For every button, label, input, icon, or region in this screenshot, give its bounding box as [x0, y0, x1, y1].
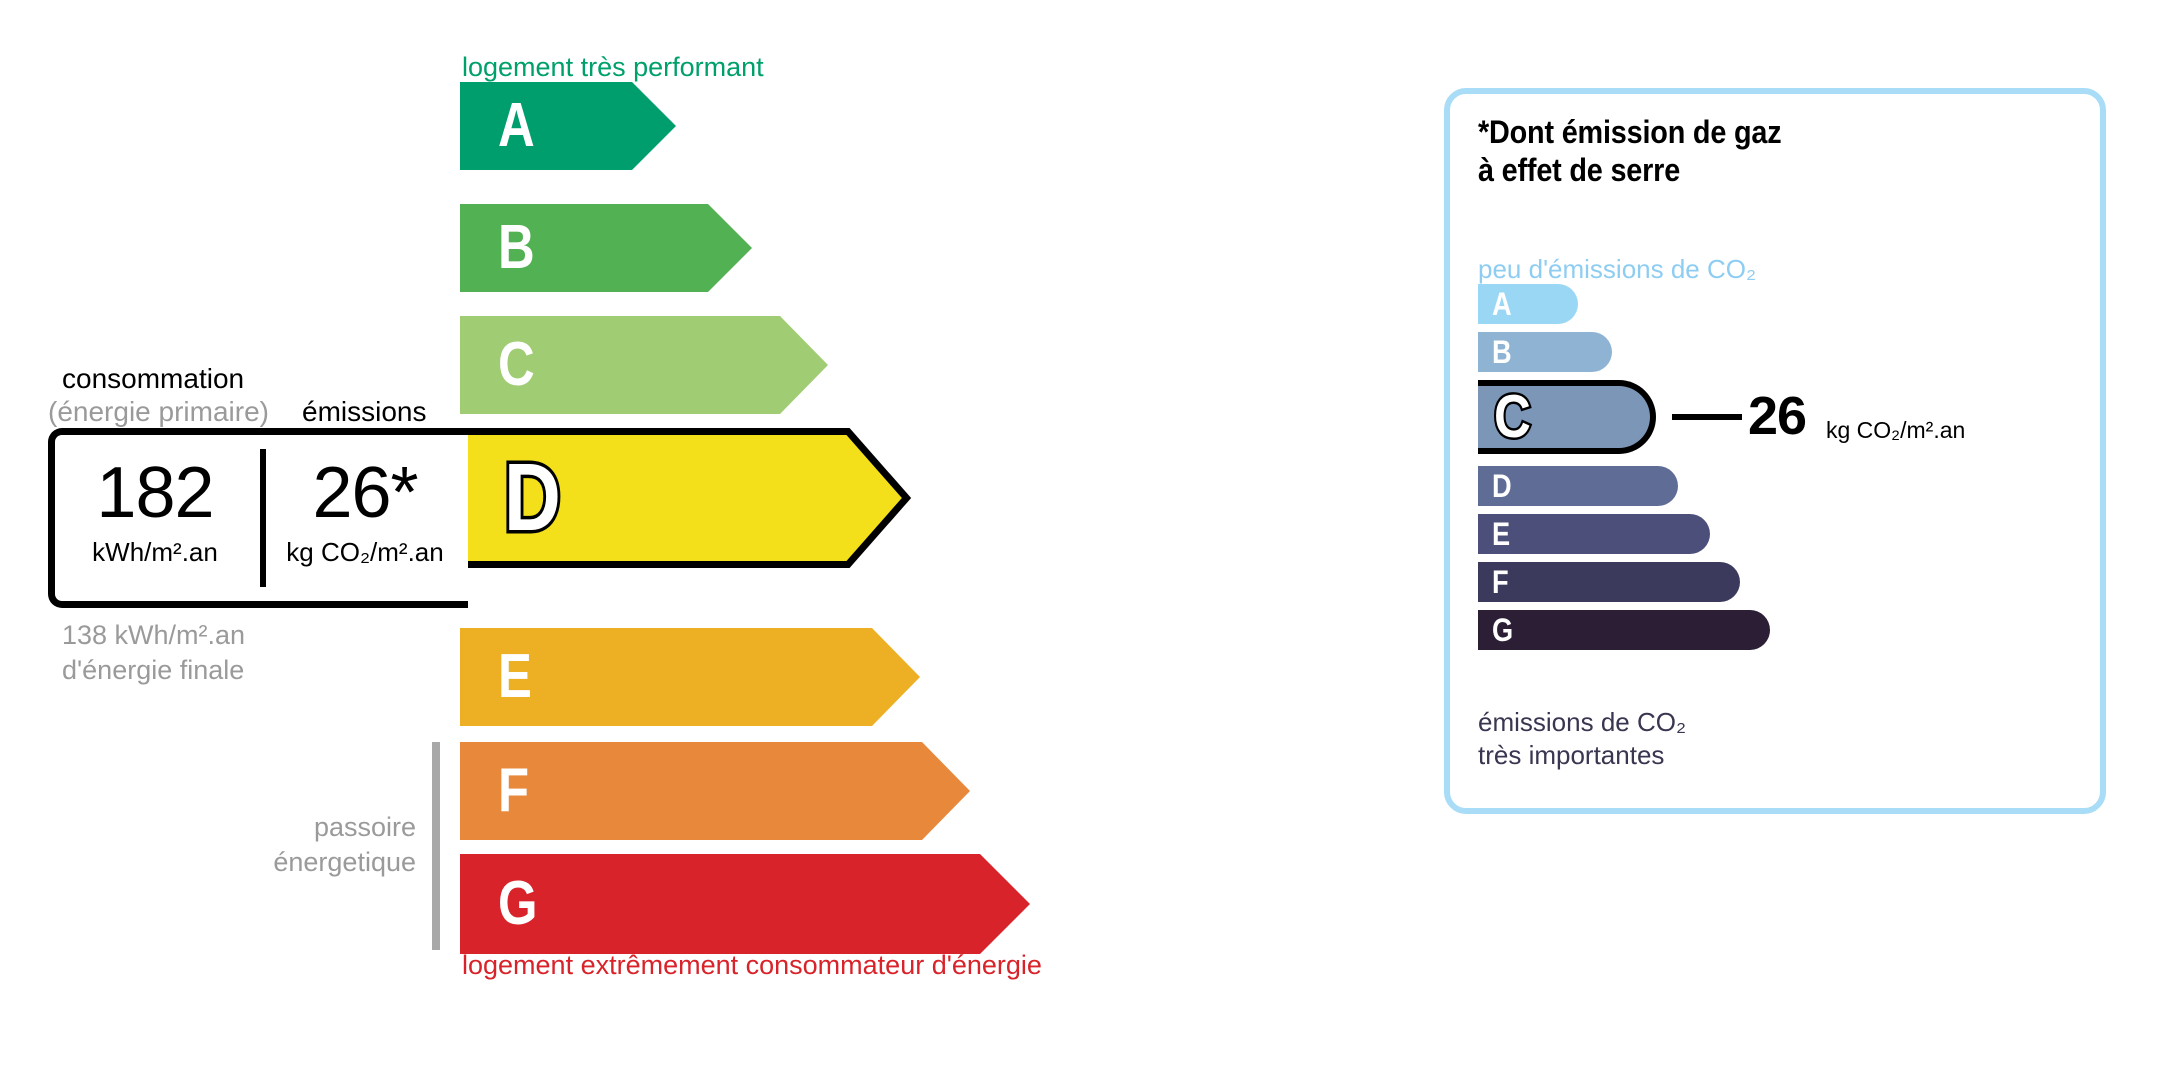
energy-band-g[interactable]: G: [460, 854, 1030, 954]
co2-callout-leader-line: [1672, 414, 1742, 420]
co2-panel-title: *Dont émission de gaz à effet de serre: [1478, 114, 1815, 190]
energy-band-e[interactable]: E: [460, 628, 920, 726]
label-energie-finale: 138 kWh/m².an d'énergie finale: [62, 618, 245, 688]
consumption-unit: kWh/m².an: [57, 537, 253, 568]
passoire-bracket: [432, 742, 440, 950]
band-letter-b: B: [498, 217, 543, 279]
energy-band-c[interactable]: C: [460, 316, 828, 414]
energie-finale-value: 138 kWh/m².an: [62, 618, 245, 653]
consumption-value: 182: [57, 457, 253, 529]
co2-bar-letter-a: A: [1492, 288, 1515, 320]
energy-value-box: 182 kWh/m².an 26* kg CO₂/m².an: [48, 428, 468, 608]
band-letter-e: E: [498, 646, 539, 708]
band-shape-a: [460, 82, 676, 170]
co2-bar-d[interactable]: D: [1478, 466, 1678, 506]
energy-band-f[interactable]: F: [460, 742, 970, 840]
label-consommation: consommation: [62, 363, 244, 395]
co2-bar-letter-c: C: [1494, 387, 1537, 447]
co2-bar-g[interactable]: G: [1478, 610, 1770, 650]
band-letter-a: A: [498, 95, 543, 157]
co2-bottom-line-2: très importantes: [1478, 739, 1686, 772]
co2-bar-f[interactable]: F: [1478, 562, 1740, 602]
co2-bar-b[interactable]: B: [1478, 332, 1612, 372]
energy-band-b[interactable]: B: [460, 204, 752, 292]
value-box-divider: [260, 449, 266, 587]
band-letter-d: D: [504, 450, 573, 546]
emission-unit: kg CO₂/m².an: [267, 537, 463, 568]
co2-bar-c-selected[interactable]: C: [1478, 380, 1656, 454]
energy-band-d-selected[interactable]: D: [460, 428, 910, 568]
band-letter-g: G: [498, 873, 546, 935]
passoire-energetique-label: passoire énergetique: [240, 810, 416, 879]
energy-top-caption: logement très performant: [462, 52, 764, 83]
co2-bar-letter-e: E: [1492, 518, 1513, 550]
emission-value-cell: 26* kg CO₂/m².an: [267, 457, 463, 568]
energy-performance-diagram: logement très performant A B C D E F G 1…: [0, 0, 1400, 1079]
band-letter-f: F: [498, 760, 536, 822]
co2-bar-e[interactable]: E: [1478, 514, 1710, 554]
co2-top-caption: peu d'émissions de CO₂: [1478, 254, 1756, 285]
co2-title-line-2: à effet de serre: [1478, 152, 1781, 190]
co2-title-line-1: *Dont émission de gaz: [1478, 114, 1781, 152]
energy-band-a[interactable]: A: [460, 82, 676, 170]
co2-bar-letter-g: G: [1492, 614, 1517, 646]
co2-bar-letter-f: F: [1492, 566, 1512, 598]
energie-finale-text: d'énergie finale: [62, 653, 245, 688]
co2-bottom-caption: émissions de CO₂ très importantes: [1478, 706, 1686, 773]
co2-callout-unit: kg CO₂/m².an: [1826, 419, 1965, 442]
emission-value: 26*: [267, 457, 463, 529]
passoire-line-1: passoire: [240, 810, 416, 845]
co2-bar-letter-d: D: [1492, 470, 1515, 502]
energy-bottom-caption: logement extrêmement consommateur d'éner…: [462, 950, 1042, 981]
label-emissions: émissions: [302, 396, 426, 428]
co2-bottom-line-1: émissions de CO₂: [1478, 706, 1686, 739]
band-letter-c: C: [498, 334, 543, 396]
consumption-value-cell: 182 kWh/m².an: [57, 457, 253, 568]
band-shape-f: [460, 742, 970, 840]
co2-bar-letter-b: B: [1492, 336, 1515, 368]
passoire-line-2: énergetique: [240, 845, 416, 880]
label-energie-primaire: (énergie primaire): [48, 396, 269, 428]
co2-callout-value: 26: [1748, 389, 1806, 443]
co2-bar-a[interactable]: A: [1478, 284, 1578, 324]
co2-emissions-panel: *Dont émission de gaz à effet de serre p…: [1444, 88, 2106, 814]
